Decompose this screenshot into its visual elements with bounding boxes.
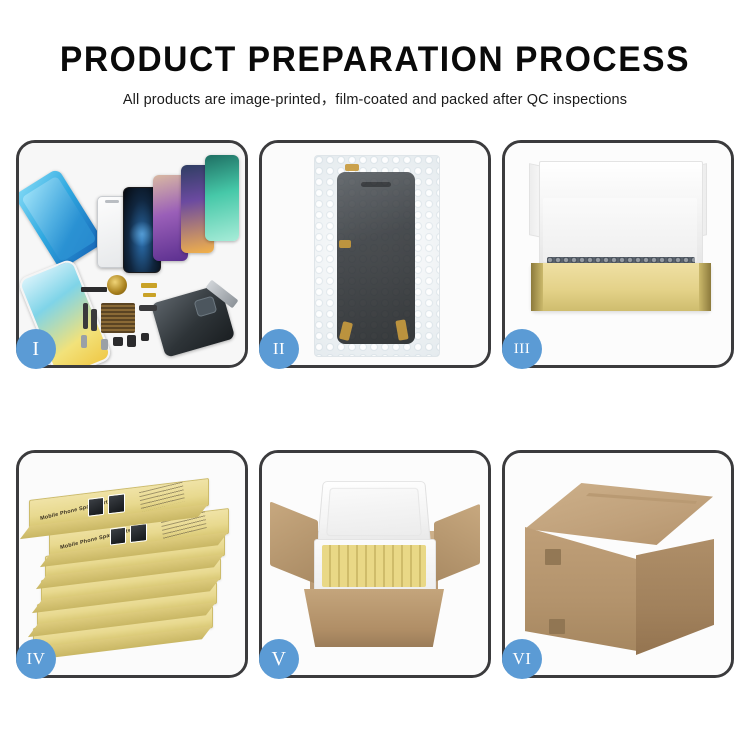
- screen-thumbnail-icon: [110, 527, 126, 546]
- flex-tab-icon: [339, 240, 351, 248]
- foam-lid-icon: [317, 481, 431, 544]
- foam-liner-icon: [543, 198, 697, 262]
- speaker-coil-icon: [107, 275, 127, 295]
- yellow-mailer-box-icon: [531, 263, 711, 311]
- step-number-badge: VI: [502, 639, 542, 679]
- box-stack-icon: Mobile Phone Spare Parts Mobile Phone Sp…: [27, 467, 239, 667]
- bubble-wrap-bag-icon: [314, 155, 440, 357]
- carton-tape-patch-icon: [545, 549, 561, 565]
- small-part-icon: [101, 339, 108, 350]
- page-subtitle: All products are image-printed，film-coat…: [0, 79, 750, 109]
- process-step-panel-2[interactable]: II: [259, 140, 491, 368]
- flex-cable-icon: [139, 305, 157, 311]
- chip-part-icon: [81, 287, 107, 292]
- carton-left-face-icon: [525, 527, 637, 651]
- step-number-badge: V: [259, 639, 299, 679]
- process-steps-grid: I II: [16, 140, 734, 678]
- carton-left-flap-icon: [270, 501, 318, 584]
- process-step-panel-4[interactable]: Mobile Phone Spare Parts Mobile Phone Sp…: [16, 450, 248, 678]
- flex-cable-icon: [91, 309, 97, 331]
- step-number-badge: III: [502, 329, 542, 369]
- carton-front-panel-icon: [304, 589, 444, 647]
- blue-phone-back-cover-icon: [19, 168, 104, 270]
- header: PRODUCT PREPARATION PROCESS All products…: [0, 0, 750, 109]
- green-gradient-phone-icon: [205, 155, 239, 241]
- step-number-badge: II: [259, 329, 299, 369]
- carton-tape-patch-icon: [549, 619, 565, 634]
- process-step-panel-1[interactable]: I: [16, 140, 248, 368]
- carton-right-flap-icon: [434, 504, 480, 583]
- packed-yellow-boxes-icon: [322, 545, 426, 587]
- screen-thumbnail-icon: [130, 523, 147, 543]
- flex-tab-icon: [345, 164, 359, 171]
- screen-thumbnail-icon: [88, 497, 104, 517]
- small-part-icon: [141, 333, 149, 341]
- connector-grid-icon: [101, 303, 135, 333]
- small-part-icon: [81, 335, 87, 348]
- process-step-panel-5[interactable]: V: [259, 450, 491, 678]
- process-step-panel-3[interactable]: III: [502, 140, 734, 368]
- carton-right-face-icon: [636, 539, 714, 655]
- step-3-image: [505, 143, 731, 365]
- process-step-panel-6[interactable]: VI: [502, 450, 734, 678]
- step-5-image: [262, 453, 488, 675]
- step-6-image: [505, 453, 731, 675]
- screen-thumbnail-icon: [108, 493, 125, 514]
- small-part-icon: [113, 337, 123, 346]
- step-number-badge: IV: [16, 639, 56, 679]
- step-1-image: [19, 143, 245, 365]
- flex-cable-icon: [83, 303, 88, 329]
- gold-connector-icon: [141, 283, 157, 288]
- page-title: PRODUCT PREPARATION PROCESS: [15, 0, 735, 79]
- gold-connector-icon: [143, 293, 156, 297]
- small-part-icon: [127, 335, 136, 347]
- packed-screen-icon: [337, 172, 415, 344]
- step-number-badge: I: [16, 329, 56, 369]
- product-preparation-process-page: PRODUCT PREPARATION PROCESS All products…: [0, 0, 750, 750]
- step-2-image: [262, 143, 488, 365]
- step-4-image: Mobile Phone Spare Parts Mobile Phone Sp…: [19, 453, 245, 675]
